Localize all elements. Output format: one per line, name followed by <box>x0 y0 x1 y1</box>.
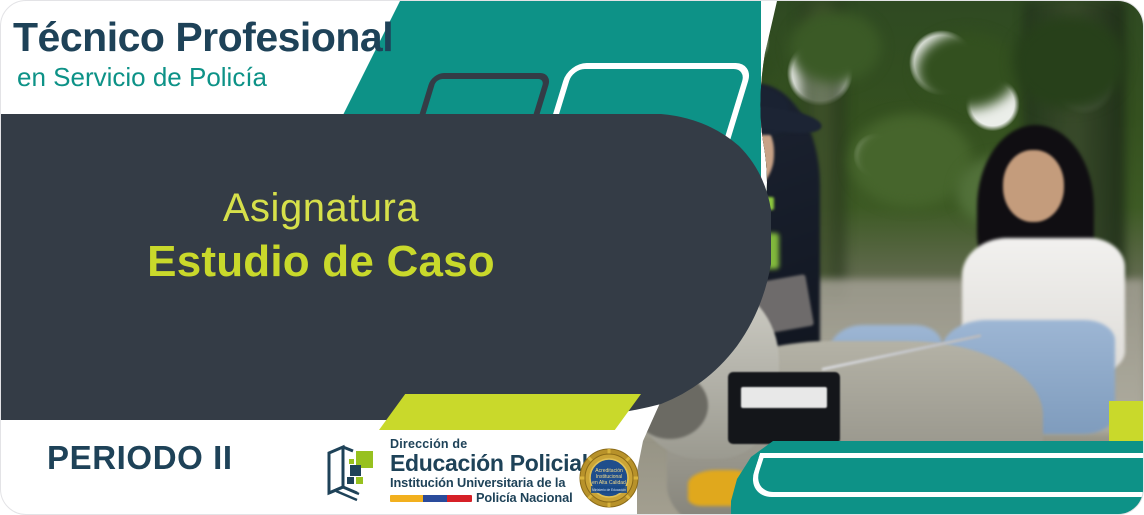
course-block: Asignatura Estudio de Caso <box>1 186 641 288</box>
course-kicker: Asignatura <box>1 186 641 230</box>
period-label: PERIODO II <box>47 439 233 477</box>
logo-line-3: Institución Universitaria de la <box>390 477 588 490</box>
course-banner: Técnico Profesional en Servicio de Polic… <box>0 0 1144 515</box>
photo-young-woman-face <box>1003 150 1064 222</box>
photo-foliage <box>789 11 880 83</box>
institution-logo: Dirección de Educación Policial Instituc… <box>323 438 588 505</box>
colombia-flag-bar <box>390 495 472 502</box>
photo-foliage <box>850 114 972 207</box>
teal-bottom-white-line <box>746 453 1144 497</box>
institution-logo-text: Dirección de Educación Policial Instituc… <box>390 438 588 505</box>
photo-dog-vest <box>728 372 840 444</box>
photo-foliage <box>1013 16 1125 109</box>
logo-line-4: Policía Nacional <box>476 492 573 505</box>
program-subtitle: en Servicio de Policía <box>17 63 493 93</box>
accreditation-seal-icon: Acreditación Institucional en Alta Calid… <box>579 448 639 508</box>
logo-line-2: Educación Policial <box>390 452 588 475</box>
svg-text:Ministerio de Educación: Ministerio de Educación <box>592 488 626 492</box>
header-block: Técnico Profesional en Servicio de Polic… <box>13 17 493 93</box>
lime-parallelogram <box>379 394 641 430</box>
photo-foliage <box>916 32 1018 109</box>
logo-line-1: Dirección de <box>390 438 588 451</box>
photo-dog-vest-label <box>741 387 827 408</box>
svg-text:en Alta Calidad: en Alta Calidad <box>592 480 626 486</box>
logo-line-4-row: Policía Nacional <box>390 492 588 505</box>
course-name: Estudio de Caso <box>1 236 641 288</box>
book-pixels-icon <box>323 441 383 503</box>
program-title: Técnico Profesional <box>13 17 493 59</box>
